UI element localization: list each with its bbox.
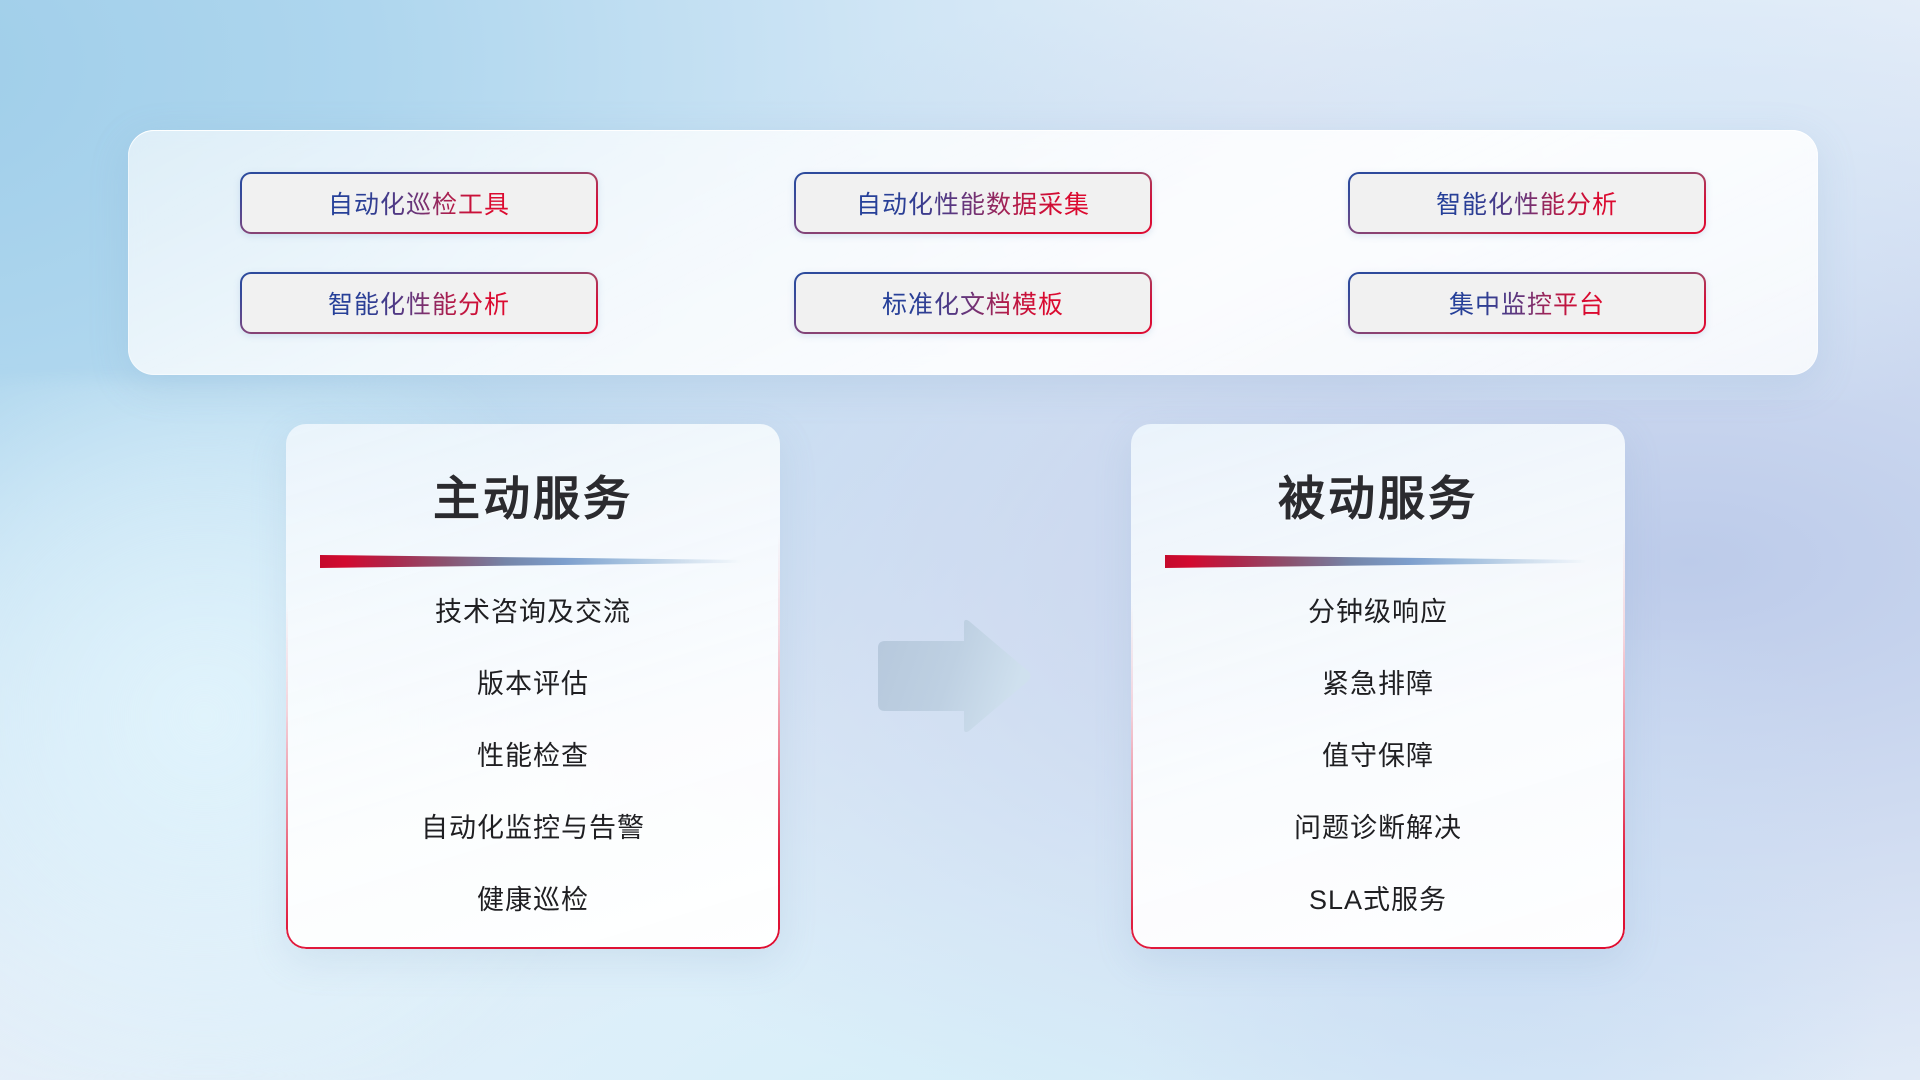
pill-inner: 自动化巡检工具: [242, 174, 596, 232]
list-item: 分钟级响应: [1308, 599, 1448, 626]
pill-inner: 标准化文档模板: [796, 274, 1150, 332]
pill-inner: 集中监控平台: [1350, 274, 1704, 332]
service-card-divider: [1165, 551, 1587, 573]
pill-inner: 智能化性能分析: [242, 274, 596, 332]
pill-inner: 自动化性能数据采集: [796, 174, 1150, 232]
service-card-item-list: 技术咨询及交流 版本评估 性能检查 自动化监控与告警 健康巡检: [286, 599, 780, 914]
list-item: 健康巡检: [477, 887, 589, 914]
divider-gradient-bar: [320, 555, 742, 568]
list-item: 值守保障: [1322, 743, 1434, 770]
service-card-reactive[interactable]: 被动服务 分钟级响应 紧急排障 值守保障 问题诊断解决 SLA式服务: [1131, 424, 1625, 949]
capability-pill-label: 智能化性能分析: [328, 285, 510, 321]
divider-gradient-bar: [1165, 555, 1587, 568]
list-item: SLA式服务: [1309, 887, 1447, 914]
list-item: 技术咨询及交流: [435, 599, 631, 626]
service-card-item-list: 分钟级响应 紧急排障 值守保障 问题诊断解决 SLA式服务: [1131, 599, 1625, 914]
service-card-proactive[interactable]: 主动服务 技术咨询及交流 版本评估 性能检查 自动化监控与告警 健康巡检: [286, 424, 780, 949]
capability-pill-label: 智能化性能分析: [1436, 185, 1618, 221]
capability-pill-label: 自动化性能数据采集: [856, 185, 1090, 221]
capability-pill-automated-inspection-tool[interactable]: 自动化巡检工具: [240, 172, 598, 234]
capability-pill-grid: 自动化巡检工具 自动化性能数据采集 智能化性能分析 智能化性能分析 标准化文档模…: [240, 172, 1706, 334]
capability-pill-intelligent-performance-analysis-top[interactable]: 智能化性能分析: [1348, 172, 1706, 234]
capability-pill-intelligent-performance-analysis-bottom[interactable]: 智能化性能分析: [240, 272, 598, 334]
capability-pill-label: 集中监控平台: [1449, 285, 1605, 321]
list-item: 自动化监控与告警: [421, 815, 645, 842]
list-item: 问题诊断解决: [1294, 815, 1462, 842]
list-item: 性能检查: [477, 743, 589, 770]
list-item: 版本评估: [477, 671, 589, 698]
capability-pill-automated-performance-data-collection[interactable]: 自动化性能数据采集: [794, 172, 1152, 234]
capability-pill-centralized-monitoring-platform[interactable]: 集中监控平台: [1348, 272, 1706, 334]
service-card-divider: [320, 551, 742, 573]
pill-inner: 智能化性能分析: [1350, 174, 1704, 232]
arrow-right-icon: [872, 618, 1032, 736]
service-card-title: 主动服务: [286, 460, 780, 529]
capability-panel: 自动化巡检工具 自动化性能数据采集 智能化性能分析 智能化性能分析 标准化文档模…: [128, 130, 1818, 375]
capability-pill-label: 标准化文档模板: [882, 285, 1064, 321]
list-item: 紧急排障: [1322, 671, 1434, 698]
service-card-title: 被动服务: [1131, 460, 1625, 529]
capability-pill-label: 自动化巡检工具: [328, 185, 510, 221]
capability-pill-standardized-document-template[interactable]: 标准化文档模板: [794, 272, 1152, 334]
